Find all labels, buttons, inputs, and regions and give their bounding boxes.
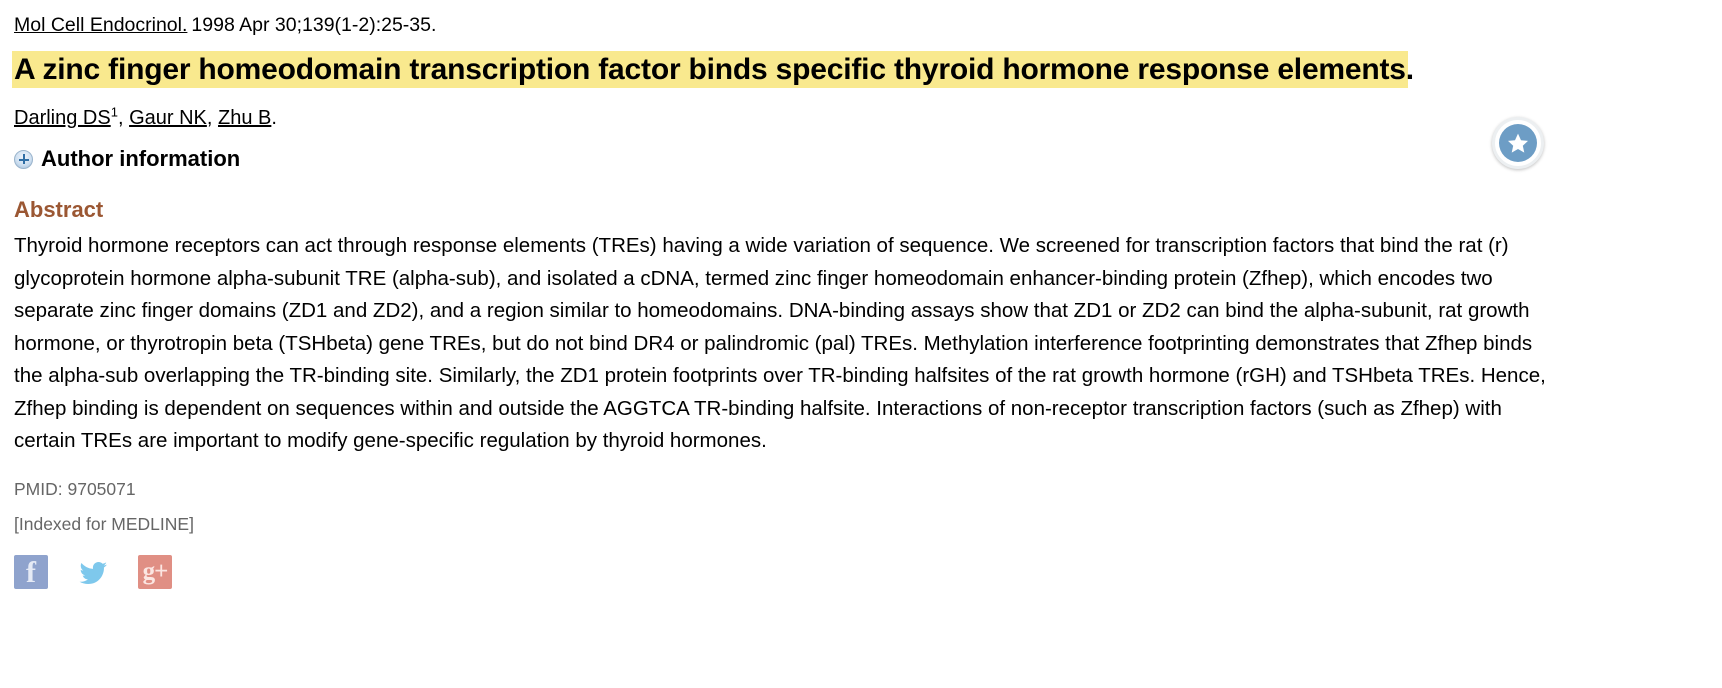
plus-circle-icon[interactable] xyxy=(14,150,33,169)
citation-line: Mol Cell Endocrinol.1998 Apr 30;139(1-2)… xyxy=(14,12,1708,38)
google-plus-glyph: g+ xyxy=(138,555,172,589)
author-link-2[interactable]: Gaur NK xyxy=(129,107,207,129)
twitter-icon[interactable] xyxy=(76,555,110,589)
social-share-row: f g+ xyxy=(14,555,1708,589)
facebook-icon[interactable]: f xyxy=(14,555,48,589)
author-separator-2: , xyxy=(207,107,218,129)
article-title-row: A zinc finger homeodomain transcription … xyxy=(14,51,1708,89)
author-affiliation-marker-1[interactable]: 1 xyxy=(111,104,118,119)
star-icon xyxy=(1499,124,1537,162)
article-title-highlighted: A zinc finger homeodomain transcription … xyxy=(14,53,1406,86)
author-link-1[interactable]: Darling DS xyxy=(14,107,111,129)
pubmed-article-record: Mol Cell Endocrinol.1998 Apr 30;139(1-2)… xyxy=(0,0,1722,688)
abstract-text: Thyroid hormone receptors can act throug… xyxy=(14,230,1562,458)
author-separator-1: , xyxy=(118,107,129,129)
abstract-heading: Abstract xyxy=(14,197,1708,223)
status-badge[interactable] xyxy=(1492,117,1544,169)
author-list: Darling DS1, Gaur NK, Zhu B. xyxy=(14,105,1708,131)
facebook-glyph: f xyxy=(14,556,48,590)
article-title-trailing: . xyxy=(1406,53,1414,86)
author-information-toggle[interactable]: Author information xyxy=(14,147,1708,171)
pmid-label: PMID: 9705071 xyxy=(14,478,1708,500)
google-plus-icon[interactable]: g+ xyxy=(138,555,172,589)
page-title: A zinc finger homeodomain transcription … xyxy=(14,53,1414,86)
citation-details: 1998 Apr 30;139(1-2):25-35. xyxy=(191,14,436,36)
indexed-status: [Indexed for MEDLINE] xyxy=(14,513,1708,535)
journal-link[interactable]: Mol Cell Endocrinol. xyxy=(14,14,187,36)
author-information-label[interactable]: Author information xyxy=(41,147,240,171)
author-list-terminator: . xyxy=(271,107,277,129)
author-link-3[interactable]: Zhu B xyxy=(218,107,271,129)
